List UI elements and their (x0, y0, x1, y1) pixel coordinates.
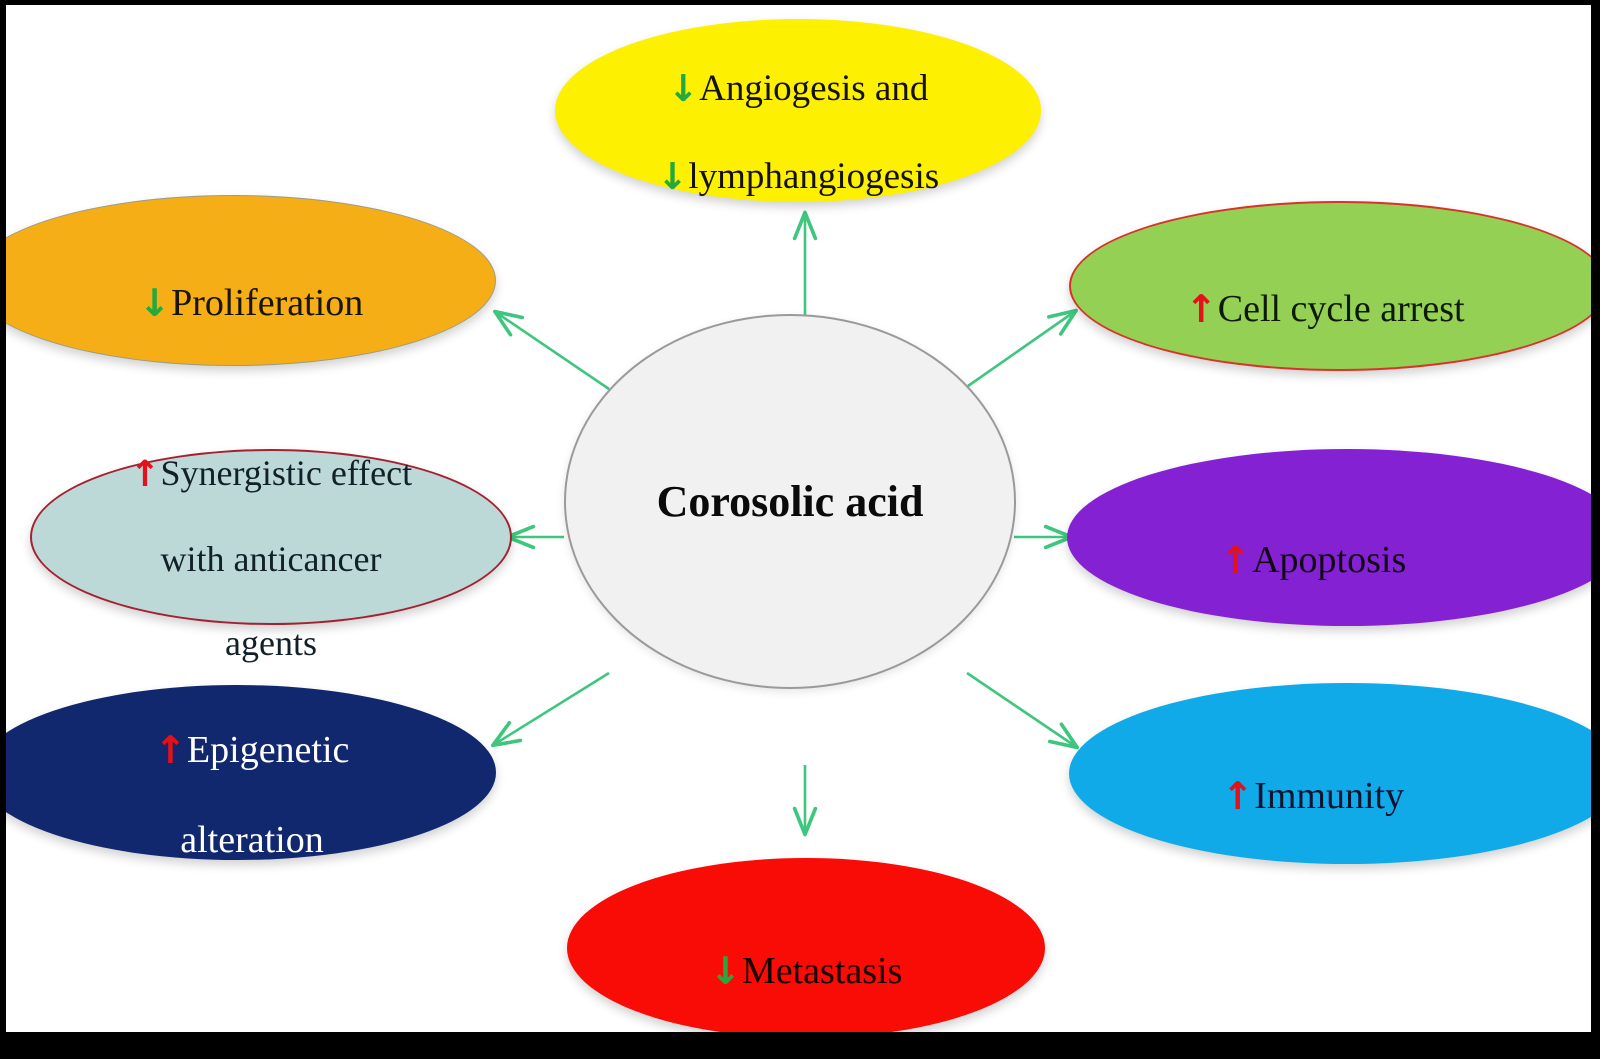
node-angiogenesis-line-2: lymphangiogesis (688, 156, 939, 197)
node-synergistic-effect-label: ↑Synergistic effect with anticancer agen… (112, 409, 430, 665)
node-synergistic-effect[interactable]: ↑Synergistic effect with anticancer agen… (30, 449, 512, 625)
node-metastasis-label: ↓Metastasis (692, 903, 921, 994)
connector-to-immunity (967, 673, 1075, 746)
node-apoptosis-text: Apoptosis (1252, 539, 1406, 581)
node-synergistic-effect-line-1: Synergistic effect (161, 453, 413, 493)
node-proliferation-text: Proliferation (171, 282, 363, 324)
node-angiogenesis-line-1: Angiogesis and (699, 68, 928, 109)
node-proliferation-label: ↓Proliferation (85, 235, 381, 326)
node-angiogenesis[interactable]: ↓Angiogesis and ↓lymphangiogesis (555, 19, 1041, 202)
node-immunity-text: Immunity (1254, 775, 1404, 817)
figure-root: ↓Angiogesis and ↓lymphangiogesis ↓Prolif… (0, 0, 1600, 1059)
node-epigenetic-alteration-label: ↑Epigenetic alteration (107, 682, 368, 862)
node-cell-cycle-arrest[interactable]: ↑Cell cycle arrest (1069, 201, 1591, 371)
node-apoptosis[interactable]: ↑Apoptosis (1067, 449, 1591, 626)
up-arrow-icon: ↑ (130, 454, 160, 496)
center-node-label: Corosolic acid (657, 476, 924, 527)
up-arrow-icon: ↑ (155, 728, 186, 773)
node-epigenetic-alteration-line-1: Epigenetic (187, 729, 349, 771)
node-cell-cycle-arrest-label: ↑Cell cycle arrest (1167, 241, 1510, 332)
node-angiogenesis-label: ↓Angiogesis and ↓lymphangiogesis (639, 22, 957, 199)
connector-to-epigenetic-alteration (495, 673, 609, 744)
node-synergistic-effect-line-3: agents (225, 623, 317, 663)
down-arrow-icon: ↓ (668, 67, 699, 111)
connector-to-cell-cycle-arrest (968, 312, 1074, 386)
node-synergistic-effect-line-2: with anticancer (161, 539, 382, 579)
down-arrow-icon: ↓ (657, 155, 688, 199)
node-immunity-label: ↑Immunity (1204, 728, 1490, 819)
up-arrow-icon: ↑ (1220, 538, 1251, 583)
node-apoptosis-label: ↑Apoptosis (1202, 492, 1492, 583)
up-arrow-icon: ↑ (1185, 287, 1216, 332)
node-cell-cycle-arrest-text: Cell cycle arrest (1218, 288, 1465, 330)
node-immunity[interactable]: ↑Immunity (1069, 683, 1591, 864)
node-metastasis-text: Metastasis (742, 950, 902, 992)
down-arrow-icon: ↓ (710, 949, 741, 994)
diagram-canvas: ↓Angiogesis and ↓lymphangiogesis ↓Prolif… (6, 5, 1591, 1032)
node-metastasis[interactable]: ↓Metastasis (567, 858, 1045, 1032)
node-epigenetic-alteration-line-2: alteration (180, 819, 323, 861)
center-node-corosolic-acid[interactable]: Corosolic acid (564, 314, 1016, 689)
node-proliferation[interactable]: ↓Proliferation (6, 195, 496, 366)
up-arrow-icon: ↑ (1222, 774, 1253, 819)
down-arrow-icon: ↓ (139, 281, 170, 326)
node-epigenetic-alteration[interactable]: ↑Epigenetic alteration (6, 685, 496, 860)
connector-to-proliferation (497, 313, 609, 389)
